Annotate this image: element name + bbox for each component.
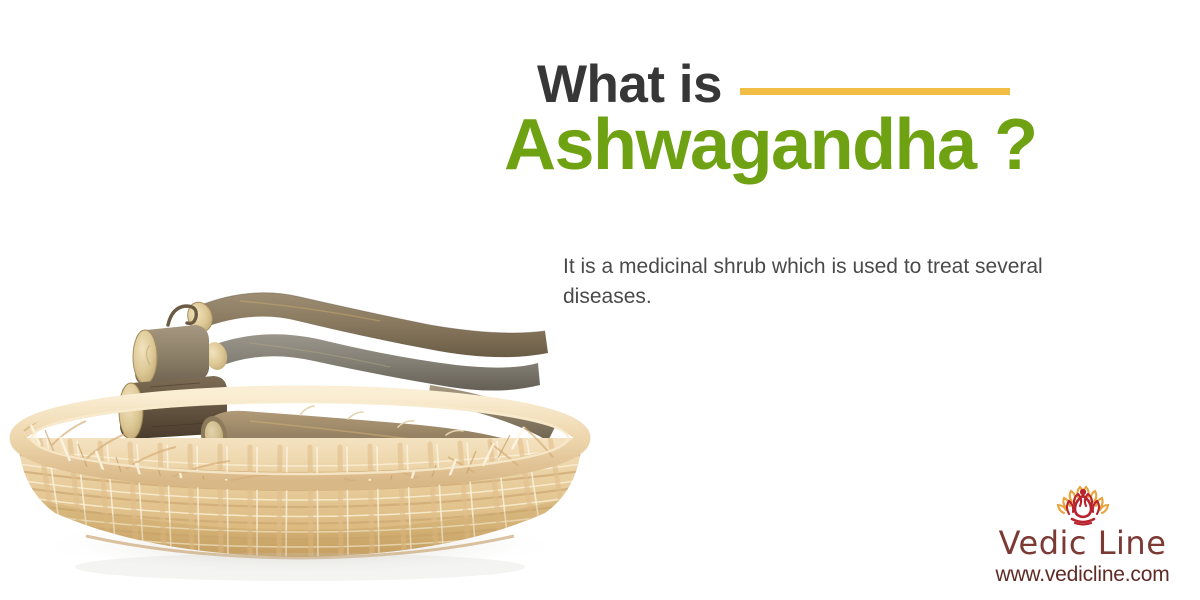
vedic-line-logo[interactable]: Vedic Line www.vedicline.com — [975, 483, 1190, 587]
gold-rule-divider — [740, 88, 1010, 95]
lotus-meditation-figure-icon — [975, 483, 1190, 529]
description-text: It is a medicinal shrub which is used to… — [563, 252, 1083, 312]
page-title: Ashwagandha ? — [504, 109, 1037, 181]
logo-website-url[interactable]: www.vedicline.com — [975, 563, 1190, 587]
banner-root: What is Ashwagandha ? It is a medicinal … — [0, 0, 1200, 600]
heading-prefix: What is — [537, 58, 722, 111]
ashwagandha-basket-photo — [0, 245, 600, 585]
logo-brand-name: Vedic Line — [975, 527, 1190, 561]
heading-block: What is Ashwagandha ? — [537, 55, 1037, 181]
